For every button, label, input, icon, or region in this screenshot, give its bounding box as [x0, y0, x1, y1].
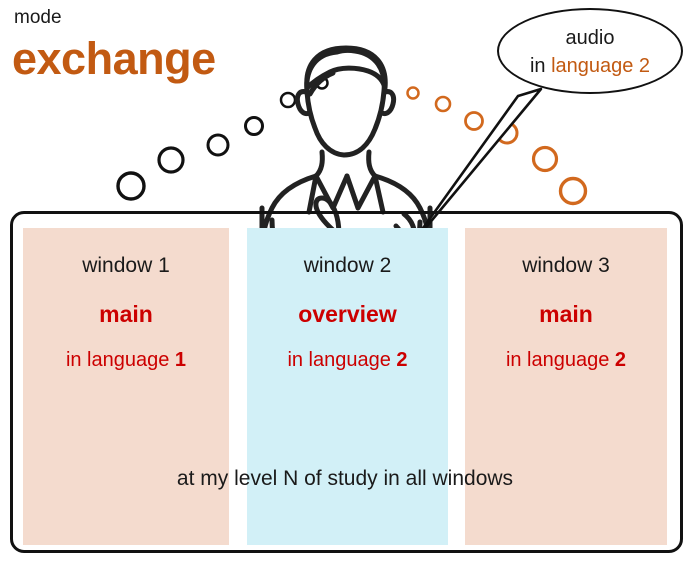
speech-bubble-text: audio in language 2 [497, 24, 683, 81]
speech-bubble-line-1: audio [497, 24, 683, 52]
speech-bubble-line-2-accent: language 2 [551, 55, 650, 77]
mode-value-exchange: exchange [12, 33, 216, 85]
black-circles-arc-icon [118, 78, 328, 200]
window-2-language: in language 2 [247, 350, 448, 370]
window-1-language-prefix: in language [66, 349, 175, 371]
orange-circles-arc-icon [408, 88, 586, 204]
speech-bubble-line-2-prefix: in [530, 55, 551, 77]
window-1-kind: main [23, 303, 229, 326]
mode-label: mode [14, 8, 62, 27]
window-1-title: window 1 [23, 255, 229, 276]
window-2-kind: overview [247, 303, 448, 326]
window-3-language-number: 2 [615, 349, 626, 371]
window-2-language-number: 2 [396, 349, 407, 371]
window-3-kind: main [465, 303, 667, 326]
window-1-language-number: 1 [175, 349, 186, 371]
window-3-language: in language 2 [465, 350, 667, 370]
window-3-language-prefix: in language [506, 349, 615, 371]
footer-note: at my level N of study in all windows [23, 468, 667, 489]
window-2-language-prefix: in language [287, 349, 396, 371]
window-1-language: in language 1 [23, 350, 229, 370]
window-2-title: window 2 [247, 255, 448, 276]
window-3-title: window 3 [465, 255, 667, 276]
speech-bubble-line-2: in language 2 [497, 52, 683, 80]
